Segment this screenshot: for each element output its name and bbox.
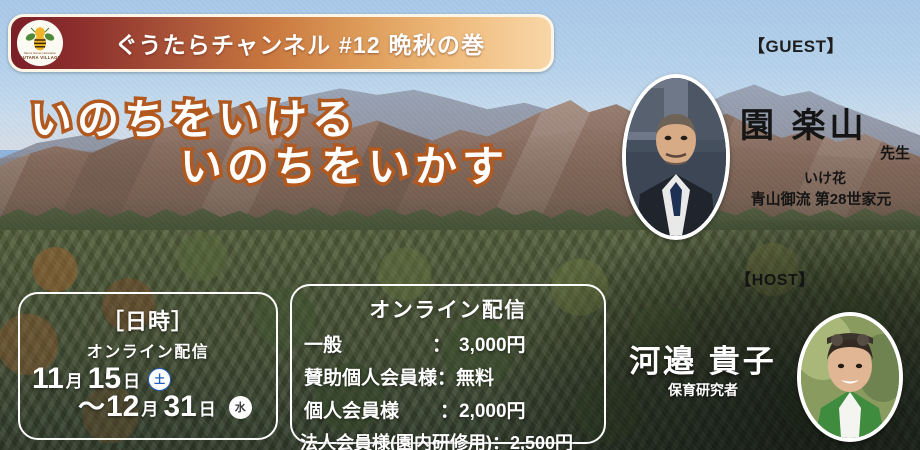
guest-honorific: 先生 (740, 142, 918, 163)
guest-photo (622, 74, 730, 240)
price-separator: ： (440, 396, 459, 423)
host-role: 保育研究者 (610, 380, 796, 400)
date-box-title: ［日時］ (20, 304, 276, 336)
price-label: 法人会員様(園内研修用) (300, 429, 492, 450)
price-info-box: オンライン配信 一般 ： 3,000円 賛助個人会員様 ： 無料 個人会員様 ：… (290, 284, 606, 444)
price-row: 法人会員様(園内研修用) ： 2,500円 (292, 429, 604, 450)
host-photo (797, 312, 903, 442)
banner-title: ぐうたらチャンネル #12 晩秋の巻 (63, 26, 551, 60)
date-start-row: 11 月 15 日 土 (20, 364, 276, 394)
price-value: 無料 (456, 363, 494, 390)
headline: いのちをいける いのちをいかす (0, 96, 620, 190)
date-range-tilde: 〜 (78, 394, 105, 421)
start-dayofweek-badge: 土 (148, 368, 171, 391)
gutara-village-logo: Nature Nursery Education GUTARA VILLAGE (17, 20, 63, 66)
guest-title-line: 青山御流 第28世家元 (722, 188, 920, 209)
start-month-number: 11 (32, 364, 64, 394)
date-box-subtitle: オンライン配信 (20, 338, 276, 362)
headline-line-2: いのちをいかす (0, 143, 620, 190)
bee-icon (25, 26, 55, 52)
headline-line-1: いのちをいける (0, 96, 620, 143)
price-label: 個人会員様 (304, 396, 440, 423)
end-day-number: 31 (163, 392, 196, 422)
price-row: 一般 ： 3,000円 (292, 330, 604, 357)
price-separator: ： (432, 330, 451, 357)
guest-name: 園 楽山 (740, 98, 918, 147)
end-day-unit: 日 (199, 395, 216, 420)
price-label: 一般 (304, 330, 432, 357)
end-month-unit: 月 (141, 395, 158, 420)
price-separator: ： (437, 363, 456, 390)
guest-discipline: いけ花 (730, 168, 920, 188)
logo-caption: Nature Nursery Education (24, 52, 56, 55)
price-row: 個人会員様 ： 2,000円 (292, 396, 604, 423)
price-value: 2,000円 (459, 396, 526, 423)
date-info-box: ［日時］ オンライン配信 11 月 15 日 土 〜 12 月 31 日 水 (18, 292, 278, 440)
price-value: 2,500円 (510, 429, 573, 450)
start-month-unit: 月 (66, 367, 83, 392)
host-label: 【HOST】 (690, 266, 860, 290)
start-day-unit: 日 (123, 367, 140, 392)
guest-label: 【GUEST】 (706, 32, 886, 57)
price-row: 賛助個人会員様 ： 無料 (292, 363, 604, 390)
host-name: 河邉 貴子 (610, 336, 796, 381)
price-value: 3,000円 (451, 330, 526, 357)
price-separator: ： (492, 429, 510, 450)
end-month-number: 12 (106, 392, 139, 422)
date-end-row: 〜 12 月 31 日 水 (20, 392, 276, 422)
logo-name: GUTARA VILLAGE (19, 55, 61, 60)
price-box-title: オンライン配信 (292, 294, 604, 324)
end-dayofweek-badge: 水 (229, 396, 252, 419)
price-label: 賛助個人会員様 (304, 363, 437, 390)
header-banner: Nature Nursery Education GUTARA VILLAGE … (8, 14, 554, 72)
